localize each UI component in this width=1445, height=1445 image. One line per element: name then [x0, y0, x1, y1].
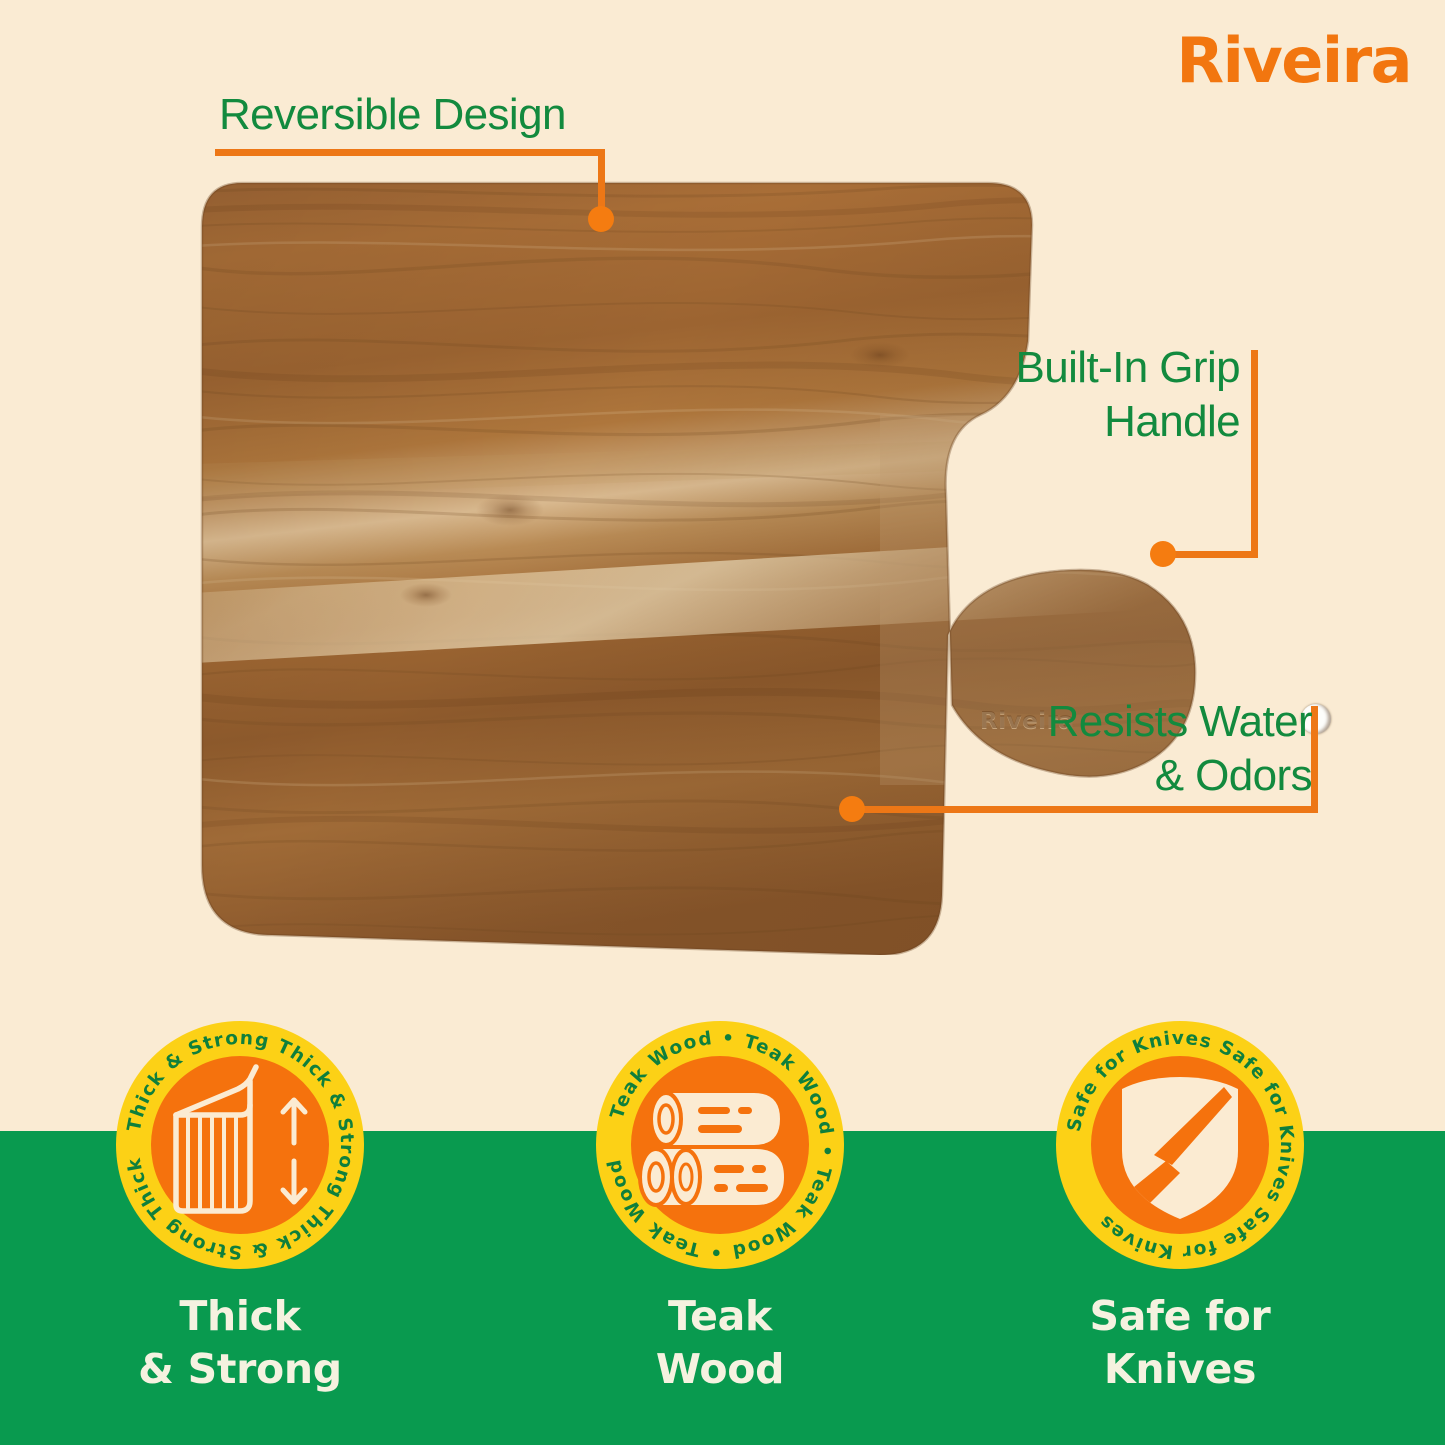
connector-line-reversible-horizontal [215, 149, 605, 156]
connector-dot-handle [1150, 541, 1176, 567]
badge-label-safe-for-knives: Safe for Knives [1020, 1290, 1340, 1397]
callout-built-in-grip-handle: Built-In Grip Handle [1016, 341, 1241, 448]
connector-line-handle-horizontal [1162, 551, 1258, 558]
connector-line-water-horizontal [851, 806, 1318, 813]
connector-line-water-vertical [1311, 706, 1318, 813]
brand-logo: Riveira [1176, 30, 1411, 92]
cutting-board-image: Riveira [180, 165, 1210, 955]
badge-safe-for-knives: Safe for Knives Safe for Knives Safe for… [1054, 1019, 1306, 1271]
callout-reversible-design: Reversible Design [219, 88, 566, 142]
connector-dot-water [839, 796, 865, 822]
badge-teak-wood: Teak Wood • Teak Wood • Teak Wood • Teak… [594, 1019, 846, 1271]
connector-dot-reversible [588, 206, 614, 232]
badge-label-teak-wood: Teak Wood [560, 1290, 880, 1397]
board-surface [180, 165, 1210, 955]
connector-line-handle-vertical [1251, 350, 1258, 558]
badge-label-thick-and-strong: Thick & Strong [80, 1290, 400, 1397]
badge-thick-and-strong: Thick & Strong Thick & Strong Thick & St… [114, 1019, 366, 1271]
callout-resists-water-odors: Resists Water & Odors [1048, 695, 1312, 802]
product-infographic: Riveira [0, 0, 1445, 1445]
cutting-board-svg [180, 165, 1210, 955]
